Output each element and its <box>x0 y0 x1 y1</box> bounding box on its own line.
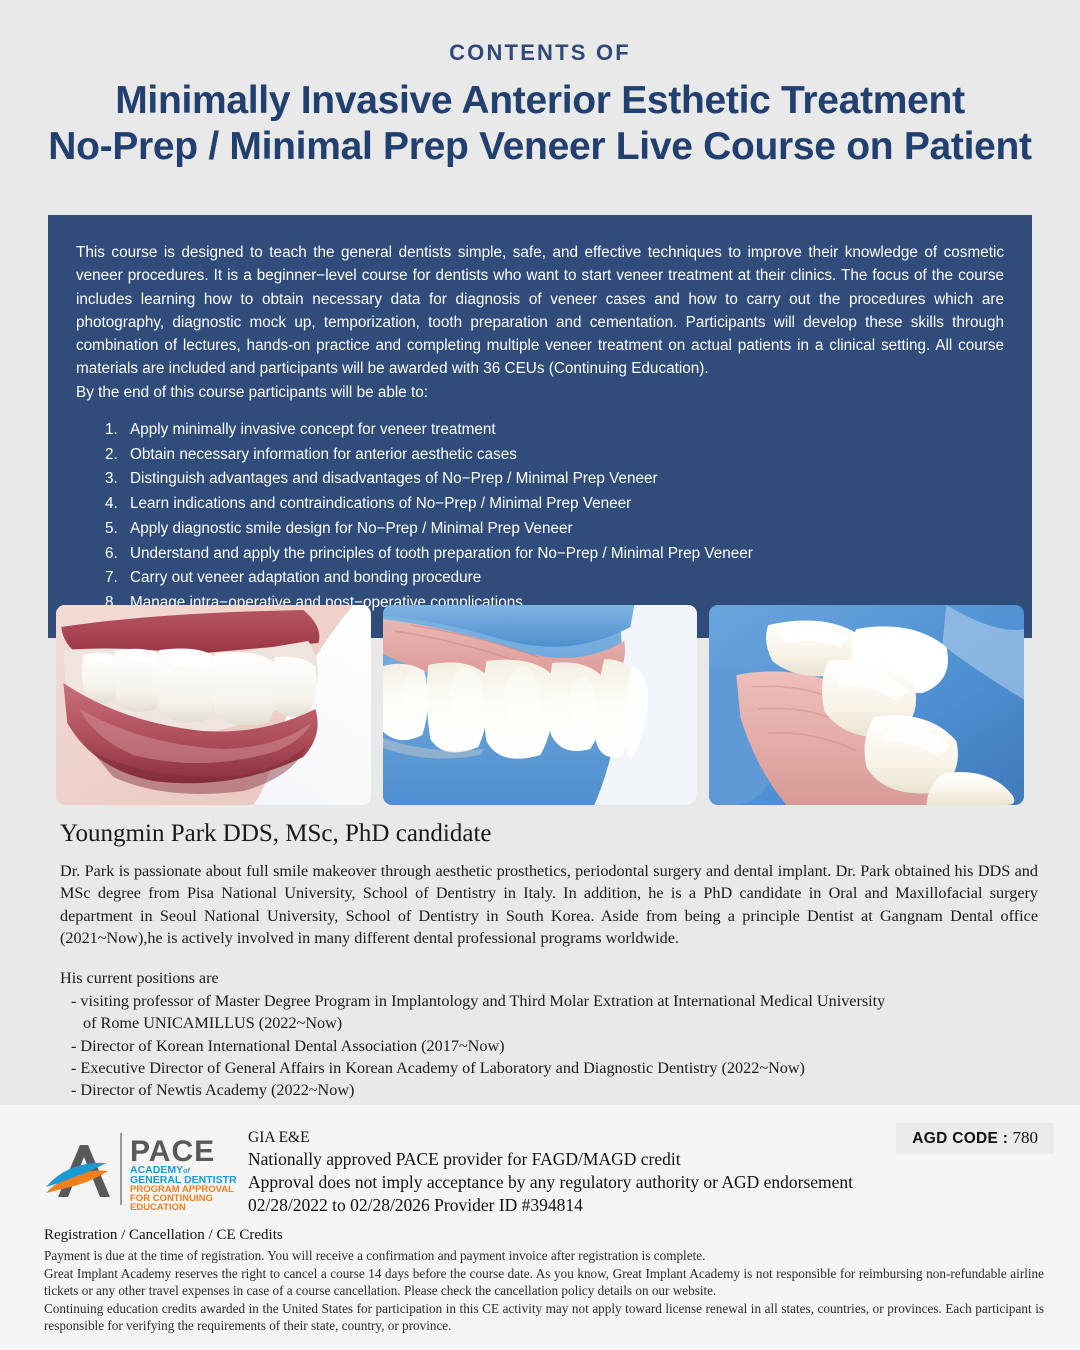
objective-item: Understand and apply the principles of t… <box>122 542 1004 567</box>
objective-item: Apply diagnostic smile design for No−Pre… <box>122 517 1004 542</box>
gia-line-1: GIA E&E <box>248 1128 853 1148</box>
fine-print-section: Registration / Cancellation / CE Credits… <box>44 1227 1044 1335</box>
kicker-contents-of: CONTENTS OF <box>30 40 1050 66</box>
clinical-photo-occlusal-veneers <box>709 605 1024 805</box>
positions-intro: His current positions are <box>60 967 1038 989</box>
fine-print-ce-credits: Continuing education credits awarded in … <box>44 1300 1044 1335</box>
position-item: - Director of Newtis Academy (2022~Now) <box>60 1079 1038 1101</box>
lateral-smile-illustration <box>56 605 371 805</box>
instructor-bio: Youngmin Park DDS, MSc, PhD candidate Dr… <box>60 820 1038 1102</box>
pace-education-text: EDUCATION <box>130 1202 186 1211</box>
position-item: - Director of Korean International Denta… <box>60 1035 1038 1057</box>
gia-line-4: 02/28/2022 to 02/28/2026 Provider ID #39… <box>248 1194 853 1217</box>
objective-item: Learn indications and contraindications … <box>122 492 1004 517</box>
agd-code-label: AGD CODE : <box>912 1130 1008 1147</box>
agd-code-badge: AGD CODE : 780 <box>896 1123 1054 1154</box>
pace-accreditation-row: PACE ACADEMYof GENERAL DENTISTRY PROGRAM… <box>44 1127 853 1216</box>
agd-code-value: 780 <box>1013 1128 1039 1147</box>
pace-logo: PACE ACADEMYof GENERAL DENTISTRY PROGRAM… <box>44 1127 236 1211</box>
objective-item: Carry out veneer adaptation and bonding … <box>122 566 1004 591</box>
title-line-2: No-Prep / Minimal Prep Veneer Live Cours… <box>30 124 1050 170</box>
objective-item: Apply minimally invasive concept for ven… <box>122 418 1004 443</box>
page-footer: AGD CODE : 780 PACE ACADEMYof GENERAL DE… <box>0 1105 1080 1350</box>
title-line-1: Minimally Invasive Anterior Esthetic Tre… <box>115 79 965 122</box>
gia-accreditation-text: GIA E&E Nationally approved PACE provide… <box>248 1127 853 1216</box>
fine-print-payment: Payment is due at the time of registrati… <box>44 1247 1044 1265</box>
page-title: Minimally Invasive Anterior Esthetic Tre… <box>30 78 1050 169</box>
instructor-name: Youngmin Park DDS, MSc, PhD candidate <box>60 820 1038 848</box>
objectives-intro: By the end of this course participants w… <box>76 381 1004 404</box>
gia-line-3: Approval does not imply acceptance by an… <box>248 1171 853 1194</box>
course-description-paragraph: This course is designed to teach the gen… <box>76 241 1004 381</box>
position-item: - visiting professor of Master Degree Pr… <box>60 990 1038 1035</box>
course-description-panel: This course is designed to teach the gen… <box>48 215 1032 638</box>
instructor-description: Dr. Park is passionate about full smile … <box>60 860 1038 949</box>
position-main: - visiting professor of Master Degree Pr… <box>71 992 885 1010</box>
fine-print-heading: Registration / Cancellation / CE Credits <box>44 1227 1044 1244</box>
occlusal-veneers-illustration <box>709 605 1024 805</box>
objective-item: Distinguish advantages and disadvantages… <box>122 467 1004 492</box>
clinical-photo-row <box>56 605 1024 805</box>
page-header: CONTENTS OF Minimally Invasive Anterior … <box>0 0 1080 179</box>
clinical-photo-lateral-smile <box>56 605 371 805</box>
fine-print-cancellation: Great Implant Academy reserves the right… <box>44 1265 1044 1300</box>
position-item: - Executive Director of General Affairs … <box>60 1057 1038 1079</box>
objective-item: Obtain necessary information for anterio… <box>122 443 1004 468</box>
retracted-veneers-illustration <box>383 605 698 805</box>
position-continuation: of Rome UNICAMILLUS (2022~Now) <box>71 1012 1038 1034</box>
positions-list: - visiting professor of Master Degree Pr… <box>60 990 1038 1102</box>
clinical-photo-retracted-veneers <box>383 605 698 805</box>
objectives-list: Apply minimally invasive concept for ven… <box>122 418 1004 616</box>
gia-line-2: Nationally approved PACE provider for FA… <box>248 1148 853 1171</box>
